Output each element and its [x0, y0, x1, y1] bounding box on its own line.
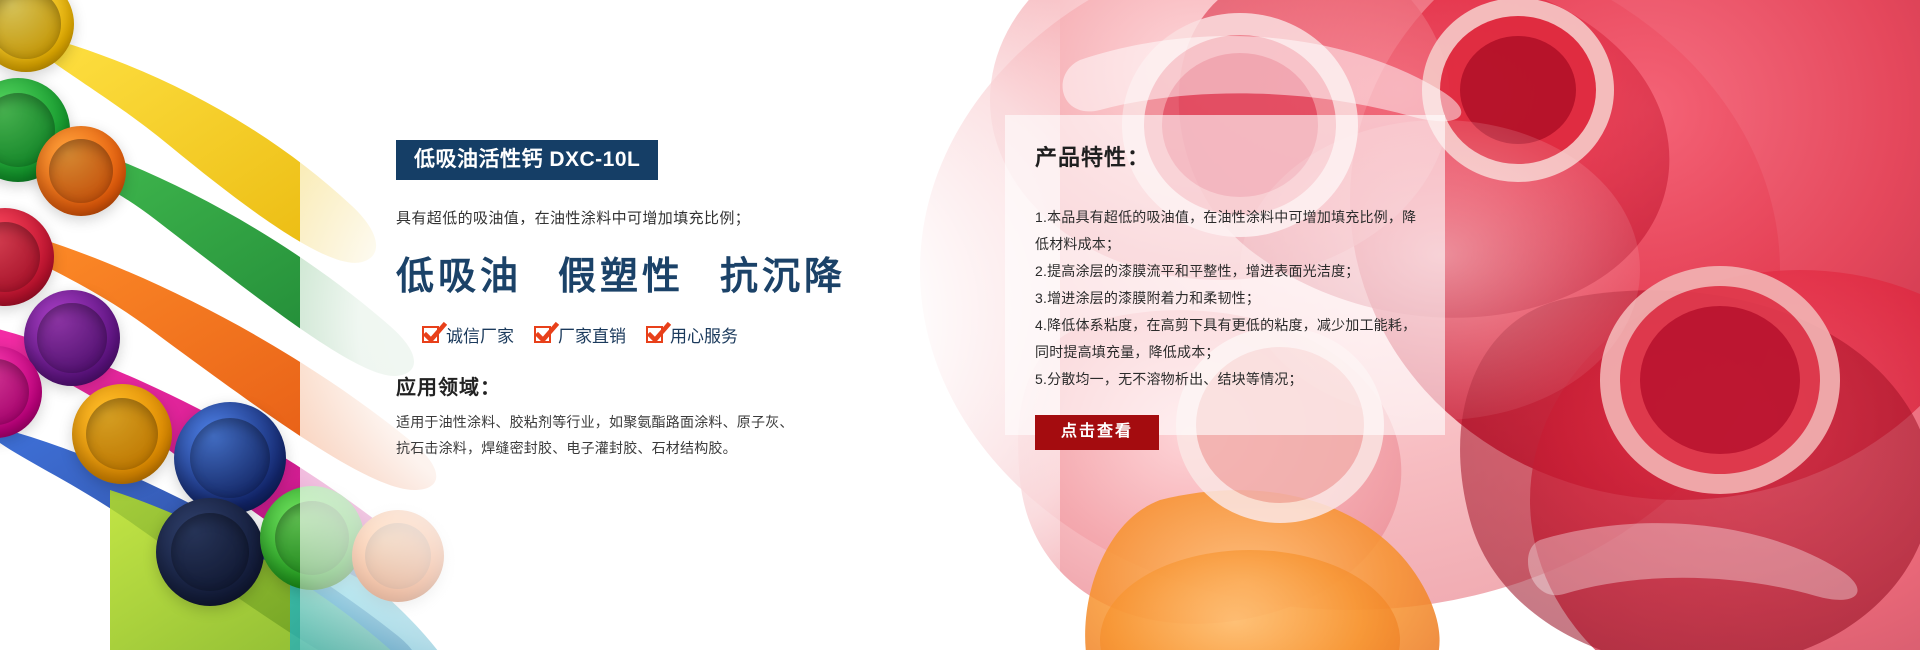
- trust-badge-label: 厂家直销: [558, 322, 626, 347]
- trust-badge-1: 诚信厂家: [422, 322, 514, 347]
- feature-item: 5.分散均一，无不溶物析出、结块等情况；: [1035, 366, 1425, 393]
- feature-item: 2.提高涂层的漆膜流平和平整性，增进表面光洁度；: [1035, 258, 1425, 285]
- features-panel: 产品特性： 1.本品具有超低的吸油值，在油性涂料中可增加填充比例，降低材料成本；…: [1035, 140, 1435, 450]
- features-list: 1.本品具有超低的吸油值，在油性涂料中可增加填充比例，降低材料成本； 2.提高涂…: [1035, 204, 1425, 393]
- trust-badge-label: 用心服务: [670, 322, 738, 347]
- trust-badge-label: 诚信厂家: [446, 322, 514, 347]
- promo-banner: 低吸油活性钙 DXC-10L 具有超低的吸油值，在油性涂料中可增加填充比例； 低…: [0, 0, 1920, 650]
- features-panel-title: 产品特性：: [1035, 140, 1435, 172]
- check-square-icon: [646, 326, 663, 343]
- product-title-badge: 低吸油活性钙 DXC-10L: [396, 140, 658, 180]
- feature-item: 1.本品具有超低的吸油值，在油性涂料中可增加填充比例，降低材料成本；: [1035, 204, 1425, 258]
- check-square-icon: [534, 326, 551, 343]
- paint-pot: [156, 498, 264, 606]
- keyword-2: 假塑性: [558, 245, 684, 300]
- paint-pot: [0, 0, 74, 72]
- paint-pot: [0, 208, 54, 306]
- check-square-icon: [422, 326, 439, 343]
- view-details-button[interactable]: 点击查看: [1035, 415, 1159, 450]
- product-subtitle: 具有超低的吸油值，在油性涂料中可增加填充比例；: [396, 207, 956, 228]
- paint-pot: [260, 486, 364, 590]
- keyword-1: 低吸油: [396, 245, 522, 300]
- product-keywords: 低吸油 假塑性 抗沉降: [396, 245, 956, 300]
- paint-pot: [72, 384, 172, 484]
- feature-item: 4.降低体系粘度，在高剪下具有更低的粘度，减少加工能耗，同时提高填充量，降低成本…: [1035, 312, 1425, 366]
- trust-badge-3: 用心服务: [646, 322, 738, 347]
- application-heading: 应用领域：: [396, 371, 956, 400]
- paint-pot: [24, 290, 120, 386]
- paint-pot: [352, 510, 444, 602]
- trust-badge-row: 诚信厂家 厂家直销 用心服务: [422, 322, 956, 347]
- feature-item: 3.增进涂层的漆膜附着力和柔韧性；: [1035, 285, 1425, 312]
- paint-pot: [36, 126, 126, 216]
- paint-pot: [174, 402, 286, 514]
- application-body: 适用于油性涂料、胶粘剂等行业，如聚氨酯路面涂料、原子灰、抗石击涂料，焊缝密封胶、…: [396, 409, 796, 461]
- keyword-3: 抗沉降: [720, 245, 846, 300]
- paint-pot: [0, 78, 70, 182]
- paint-pot: [0, 346, 42, 438]
- left-content-column: 低吸油活性钙 DXC-10L 具有超低的吸油值，在油性涂料中可增加填充比例； 低…: [396, 140, 956, 461]
- trust-badge-2: 厂家直销: [534, 322, 626, 347]
